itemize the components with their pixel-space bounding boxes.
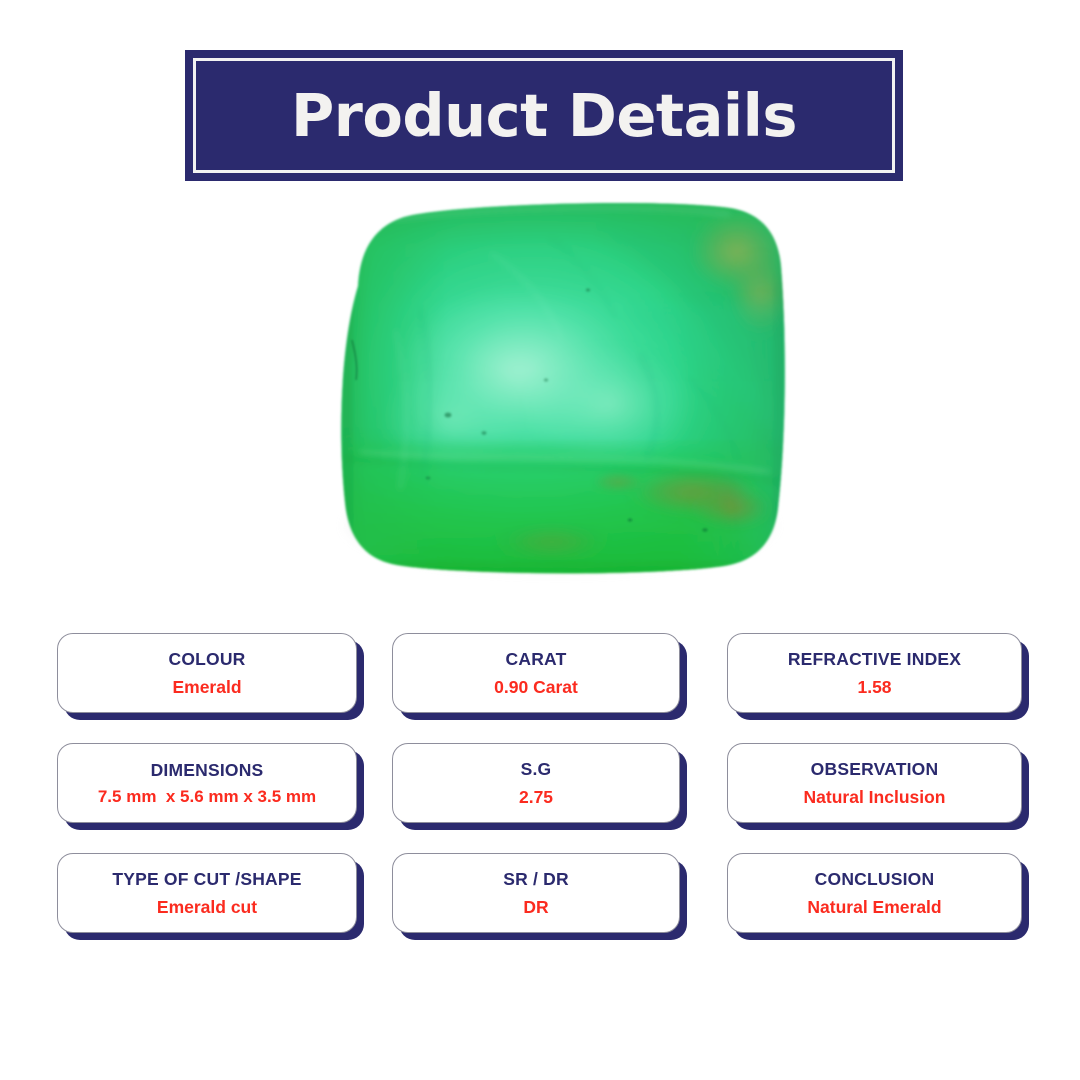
card-cell: DIMENSIONS 7.5 mm x 5.6 mm x 3.5 mm bbox=[57, 743, 392, 853]
card-value: Natural Inclusion bbox=[804, 787, 946, 807]
card-value: Emerald cut bbox=[157, 897, 257, 917]
card-title: CONCLUSION bbox=[815, 869, 935, 889]
detail-card-carat[interactable]: CARAT 0.90 Carat bbox=[392, 633, 680, 713]
card-title: TYPE OF CUT /SHAPE bbox=[112, 869, 301, 889]
detail-card-sr-dr[interactable]: SR / DR DR bbox=[392, 853, 680, 933]
emerald-gemstone-icon bbox=[300, 190, 820, 600]
card-value: 7.5 mm x 5.6 mm x 3.5 mm bbox=[98, 787, 316, 807]
card-cell: CARAT 0.90 Carat bbox=[392, 633, 727, 743]
card-value: 0.90 Carat bbox=[494, 677, 578, 697]
detail-card-conclusion[interactable]: CONCLUSION Natural Emerald bbox=[727, 853, 1022, 933]
card-cell: CONCLUSION Natural Emerald bbox=[727, 853, 1037, 963]
detail-card-observation[interactable]: OBSERVATION Natural Inclusion bbox=[727, 743, 1022, 823]
card-value: 1.58 bbox=[857, 677, 891, 697]
card-cell: OBSERVATION Natural Inclusion bbox=[727, 743, 1037, 853]
card-value: 2.75 bbox=[519, 787, 553, 807]
card-cell: REFRACTIVE INDEX 1.58 bbox=[727, 633, 1037, 743]
card-title: OBSERVATION bbox=[811, 759, 939, 779]
card-title: DIMENSIONS bbox=[151, 760, 264, 780]
header-banner: Product Details bbox=[185, 50, 903, 181]
detail-card-sg[interactable]: S.G 2.75 bbox=[392, 743, 680, 823]
card-value: DR bbox=[523, 897, 548, 917]
card-title: REFRACTIVE INDEX bbox=[788, 649, 961, 669]
detail-card-colour[interactable]: COLOUR Emerald bbox=[57, 633, 357, 713]
card-cell: SR / DR DR bbox=[392, 853, 727, 963]
card-title: CARAT bbox=[506, 649, 567, 669]
page-title: Product Details bbox=[291, 86, 797, 145]
card-row: TYPE OF CUT /SHAPE Emerald cut SR / DR D… bbox=[57, 853, 1037, 963]
detail-card-type-of-cut-shape[interactable]: TYPE OF CUT /SHAPE Emerald cut bbox=[57, 853, 357, 933]
card-value: Natural Emerald bbox=[807, 897, 941, 917]
product-details-grid: COLOUR Emerald CARAT 0.90 Carat REFRACTI… bbox=[57, 633, 1037, 963]
card-value: Emerald bbox=[172, 677, 241, 697]
card-title: SR / DR bbox=[503, 869, 569, 889]
product-image bbox=[300, 190, 820, 600]
detail-card-refractive-index[interactable]: REFRACTIVE INDEX 1.58 bbox=[727, 633, 1022, 713]
card-title: COLOUR bbox=[168, 649, 245, 669]
card-row: DIMENSIONS 7.5 mm x 5.6 mm x 3.5 mm S.G … bbox=[57, 743, 1037, 853]
detail-card-dimensions[interactable]: DIMENSIONS 7.5 mm x 5.6 mm x 3.5 mm bbox=[57, 743, 357, 823]
card-cell: COLOUR Emerald bbox=[57, 633, 392, 743]
card-row: COLOUR Emerald CARAT 0.90 Carat REFRACTI… bbox=[57, 633, 1037, 743]
card-title: S.G bbox=[521, 759, 552, 779]
card-cell: TYPE OF CUT /SHAPE Emerald cut bbox=[57, 853, 392, 963]
card-cell: S.G 2.75 bbox=[392, 743, 727, 853]
